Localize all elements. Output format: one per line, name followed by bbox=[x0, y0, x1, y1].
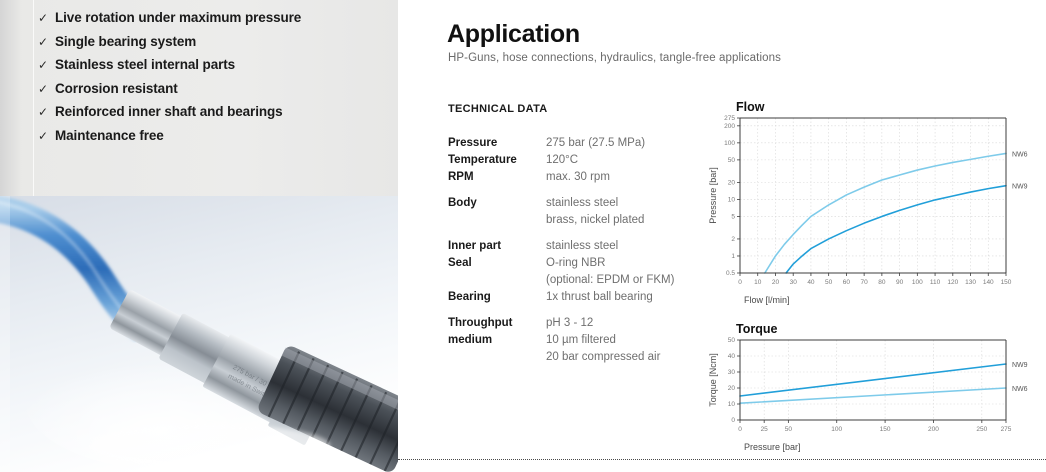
torque-chart-plot: NW9NW60255010015020025027501020304050Pre… bbox=[698, 322, 1046, 452]
tech-value: stainless steel bbox=[546, 238, 708, 255]
svg-text:150: 150 bbox=[1001, 279, 1012, 286]
svg-text:30: 30 bbox=[728, 369, 736, 376]
table-spacer bbox=[448, 306, 708, 315]
feature-panel: ✓ Live rotation under maximum pressure ✓… bbox=[0, 0, 398, 196]
check-icon: ✓ bbox=[38, 105, 55, 119]
feature-label: Single bearing system bbox=[55, 34, 196, 49]
svg-text:0: 0 bbox=[738, 426, 742, 433]
page-subtitle: HP-Guns, hose connections, hydraulics, t… bbox=[448, 52, 781, 64]
left-column: ✓ Live rotation under maximum pressure ✓… bbox=[0, 0, 398, 472]
svg-text:Flow [l/min]: Flow [l/min] bbox=[744, 295, 790, 305]
svg-text:30: 30 bbox=[790, 279, 798, 286]
svg-text:70: 70 bbox=[861, 279, 869, 286]
table-row: Pressure 275 bar (27.5 MPa) bbox=[448, 135, 708, 152]
svg-text:NW9: NW9 bbox=[1012, 184, 1028, 191]
feature-item: ✓ Single bearing system bbox=[38, 34, 301, 58]
torque-chart: Torque NW9NW6025501001502002502750102030… bbox=[698, 322, 1046, 452]
svg-text:10: 10 bbox=[728, 401, 736, 408]
check-icon: ✓ bbox=[38, 82, 55, 96]
table-row: Throughput medium pH 3 - 12 10 µm filter… bbox=[448, 315, 708, 366]
tech-key: Seal bbox=[448, 255, 546, 289]
tech-value: 120°C bbox=[546, 152, 708, 169]
check-icon: ✓ bbox=[38, 129, 55, 143]
svg-text:Pressure [bar]: Pressure [bar] bbox=[708, 167, 718, 224]
right-column: Application HP-Guns, hose connections, h… bbox=[398, 0, 1046, 472]
svg-text:275: 275 bbox=[724, 115, 735, 122]
svg-text:0: 0 bbox=[731, 417, 735, 424]
feature-item: ✓ Corrosion resistant bbox=[38, 81, 301, 105]
flow-chart-title: Flow bbox=[736, 100, 764, 114]
panel-edge-line bbox=[33, 0, 34, 196]
svg-text:100: 100 bbox=[724, 140, 735, 147]
tech-key: Inner part bbox=[448, 238, 546, 255]
tech-value: 275 bar (27.5 MPa) bbox=[546, 135, 708, 152]
tech-value: stainless steel brass, nickel plated bbox=[546, 195, 708, 229]
svg-text:40: 40 bbox=[807, 279, 815, 286]
svg-text:5: 5 bbox=[731, 214, 735, 221]
check-icon: ✓ bbox=[38, 58, 55, 72]
svg-text:110: 110 bbox=[930, 279, 941, 286]
feature-label: Corrosion resistant bbox=[55, 81, 178, 96]
tech-value: 1x thrust ball bearing bbox=[546, 289, 708, 306]
feature-item: ✓ Maintenance free bbox=[38, 128, 301, 152]
tech-key: Throughput medium bbox=[448, 315, 546, 366]
feature-list: ✓ Live rotation under maximum pressure ✓… bbox=[38, 10, 301, 151]
svg-text:2: 2 bbox=[731, 236, 735, 243]
svg-text:200: 200 bbox=[928, 426, 939, 433]
svg-text:50: 50 bbox=[728, 157, 736, 164]
feature-item: ✓ Live rotation under maximum pressure bbox=[38, 10, 301, 34]
svg-text:20: 20 bbox=[728, 385, 736, 392]
tech-value: max. 30 rpm bbox=[546, 169, 708, 186]
tech-key: Bearing bbox=[448, 289, 546, 306]
bottom-divider bbox=[398, 459, 1046, 460]
technical-data-heading: TECHNICAL DATA bbox=[448, 103, 548, 115]
svg-text:1: 1 bbox=[731, 253, 735, 260]
flow-chart-plot: NW6NW90102030405060708090100110120130140… bbox=[698, 100, 1046, 305]
svg-text:20: 20 bbox=[728, 180, 736, 187]
check-icon: ✓ bbox=[38, 35, 55, 49]
check-icon: ✓ bbox=[38, 11, 55, 25]
svg-text:100: 100 bbox=[831, 426, 842, 433]
technical-data-table: Pressure 275 bar (27.5 MPa) Temperature … bbox=[448, 135, 708, 366]
svg-text:0.5: 0.5 bbox=[726, 270, 735, 277]
product-photo: 275 bar / 30 rpm made in Switzerland bbox=[0, 196, 398, 472]
torque-chart-title: Torque bbox=[736, 322, 777, 336]
flow-chart: Flow NW6NW901020304050607080901001101201… bbox=[698, 100, 1046, 305]
svg-text:80: 80 bbox=[878, 279, 886, 286]
feature-label: Live rotation under maximum pressure bbox=[55, 10, 301, 25]
page-title: Application bbox=[447, 20, 580, 49]
svg-text:NW6: NW6 bbox=[1012, 386, 1028, 393]
feature-item: ✓ Stainless steel internal parts bbox=[38, 57, 301, 81]
feature-item: ✓ Reinforced inner shaft and bearings bbox=[38, 104, 301, 128]
feature-label: Stainless steel internal parts bbox=[55, 57, 235, 72]
svg-text:50: 50 bbox=[825, 279, 833, 286]
svg-text:140: 140 bbox=[983, 279, 994, 286]
svg-text:Pressure [bar]: Pressure [bar] bbox=[744, 442, 801, 452]
svg-text:100: 100 bbox=[912, 279, 923, 286]
table-row: Inner part stainless steel bbox=[448, 238, 708, 255]
svg-text:250: 250 bbox=[976, 426, 987, 433]
svg-text:275: 275 bbox=[1001, 426, 1012, 433]
svg-text:50: 50 bbox=[728, 337, 736, 344]
svg-text:200: 200 bbox=[724, 123, 735, 130]
svg-text:0: 0 bbox=[738, 279, 742, 286]
svg-text:NW9: NW9 bbox=[1012, 362, 1028, 369]
svg-text:25: 25 bbox=[761, 426, 769, 433]
tech-value: pH 3 - 12 10 µm filtered 20 bar compress… bbox=[546, 315, 708, 366]
svg-text:150: 150 bbox=[880, 426, 891, 433]
tech-value: O-ring NBR (optional: EPDM or FKM) bbox=[546, 255, 708, 289]
table-row: Temperature 120°C bbox=[448, 152, 708, 169]
svg-text:Torque [Ncm]: Torque [Ncm] bbox=[708, 353, 718, 407]
tech-key: Pressure bbox=[448, 135, 546, 152]
svg-text:120: 120 bbox=[947, 279, 958, 286]
svg-text:NW6: NW6 bbox=[1012, 151, 1028, 158]
tech-key: RPM bbox=[448, 169, 546, 186]
svg-text:50: 50 bbox=[785, 426, 793, 433]
table-row: Body stainless steel brass, nickel plate… bbox=[448, 195, 708, 229]
svg-text:60: 60 bbox=[843, 279, 851, 286]
svg-text:130: 130 bbox=[965, 279, 976, 286]
table-row: Seal O-ring NBR (optional: EPDM or FKM) bbox=[448, 255, 708, 289]
svg-text:40: 40 bbox=[728, 353, 736, 360]
table-row: RPM max. 30 rpm bbox=[448, 169, 708, 186]
tech-key: Temperature bbox=[448, 152, 546, 169]
svg-text:10: 10 bbox=[754, 279, 762, 286]
table-spacer bbox=[448, 186, 708, 195]
table-spacer bbox=[448, 229, 708, 238]
feature-label: Maintenance free bbox=[55, 128, 164, 143]
tech-key: Body bbox=[448, 195, 546, 229]
feature-label: Reinforced inner shaft and bearings bbox=[55, 104, 283, 119]
svg-text:10: 10 bbox=[728, 197, 736, 204]
svg-text:20: 20 bbox=[772, 279, 780, 286]
svg-text:90: 90 bbox=[896, 279, 904, 286]
table-row: Bearing 1x thrust ball bearing bbox=[448, 289, 708, 306]
